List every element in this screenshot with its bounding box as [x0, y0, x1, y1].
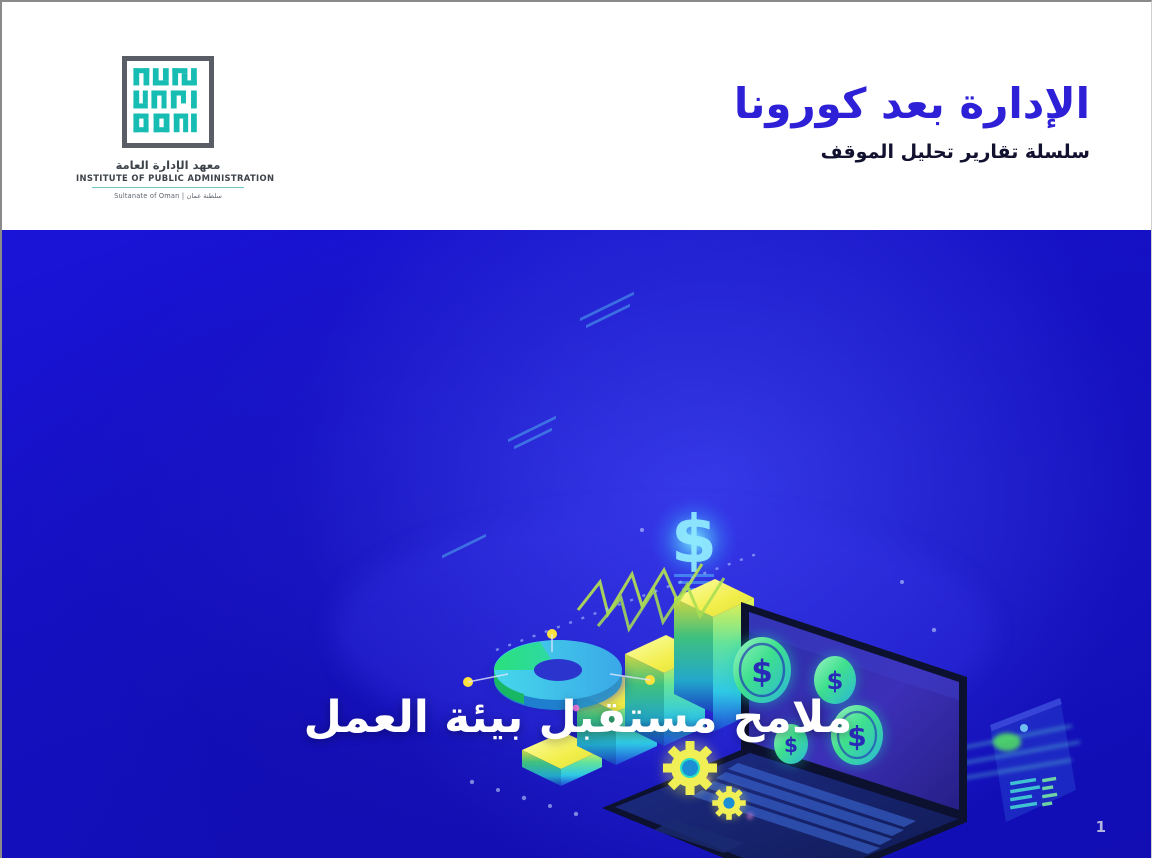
slide-header: معهد الإدارة العامة INSTITUTE OF PUBLIC … — [2, 2, 1152, 230]
logo-arabic-name: معهد الإدارة العامة — [76, 159, 260, 172]
page-subtitle: سلسلة تقارير تحليل الموقف — [734, 141, 1090, 163]
page-number: 1 — [1096, 818, 1106, 836]
header-title-group: الإدارة بعد كورونا سلسلة تقارير تحليل ال… — [734, 80, 1090, 163]
kufic-glyph-icon — [132, 66, 204, 138]
svg-text:$: $ — [671, 501, 717, 578]
slide-body: $ — [2, 230, 1152, 858]
organization-logo: معهد الإدارة العامة INSTITUTE OF PUBLIC … — [76, 46, 260, 224]
logo-sultanate-line: Sultanate of Oman | سلطنة عمان — [76, 192, 260, 200]
svg-text:$: $ — [751, 654, 773, 690]
square-kufic-ipa-logo-icon — [122, 56, 214, 148]
isometric-business-analytics-illustration: $ — [2, 230, 1152, 858]
svg-text:$: $ — [827, 667, 844, 695]
presentation-slide: معهد الإدارة العامة INSTITUTE OF PUBLIC … — [0, 0, 1152, 858]
slide-headline: ملامح مستقبل بيئة العمل — [2, 692, 1152, 743]
page-title: الإدارة بعد كورونا — [734, 80, 1090, 127]
logo-english-name: INSTITUTE OF PUBLIC ADMINISTRATION — [76, 174, 260, 183]
logo-divider — [92, 187, 244, 188]
